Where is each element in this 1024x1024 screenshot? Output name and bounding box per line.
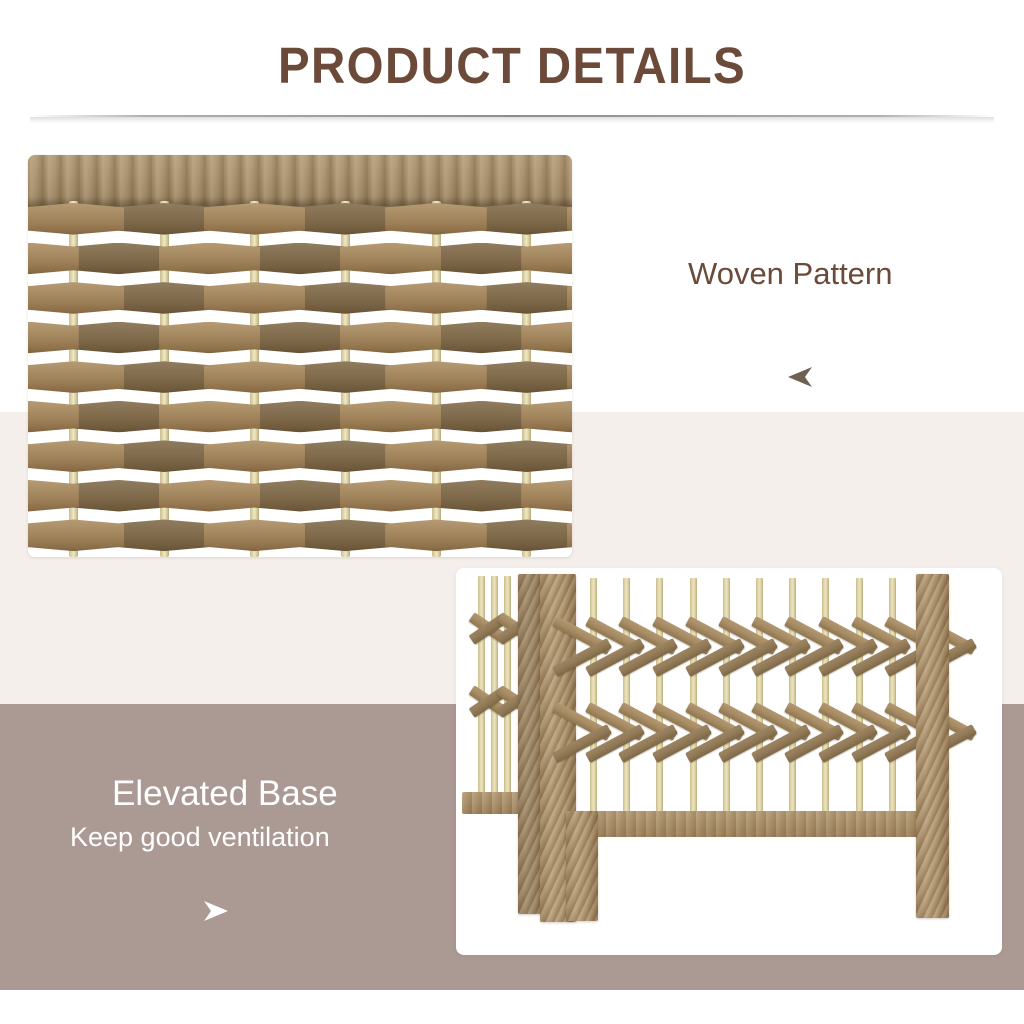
furniture-front-left-foot [566,811,598,921]
furniture-front-bar [889,578,896,813]
furniture-front-bar [856,578,863,813]
furniture-side-bar [491,576,498,796]
woven-strap [385,361,487,393]
woven-strap [204,519,306,551]
woven-strap [28,440,124,472]
woven-strap [28,480,79,512]
woven-strap [68,480,170,512]
woven-strap [521,243,572,275]
woven-strap [295,519,397,551]
product-details-page: PRODUCT DETAILS Woven Pattern Elevated B… [0,0,1024,1024]
woven-panel-body [28,155,572,557]
woven-strap [476,203,572,235]
woven-strap [295,440,397,472]
woven-strap [521,322,572,354]
background-band-footer [0,990,1024,1024]
woven-strap [385,203,487,235]
woven-strap [159,243,261,275]
furniture-front-bar [590,578,597,813]
woven-strap [385,519,487,551]
woven-strap [385,282,487,314]
woven-strap [340,243,442,275]
woven-strap [476,361,572,393]
woven-strap [28,361,124,393]
woven-strap [431,322,533,354]
woven-strap [249,243,351,275]
elevated-base-title: Elevated Base [112,774,338,814]
furniture-bottom-rail [566,811,944,837]
rattan-wrap [916,574,949,918]
woven-strap [476,440,572,472]
woven-strap [340,322,442,354]
furniture-front-bar [723,578,730,813]
furniture-side-bar [478,576,485,796]
woven-strap [567,282,572,314]
woven-strap [28,243,79,275]
woven-strap [68,401,170,433]
woven-strap [249,322,351,354]
woven-strap [567,519,572,551]
woven-pattern-image [28,155,572,557]
page-title: PRODUCT DETAILS [36,36,988,95]
left-arrow-icon [787,366,813,388]
elevated-base-subtitle: Keep good ventilation [70,822,330,853]
woven-strap [385,440,487,472]
woven-strap [204,203,306,235]
furniture-front-bar [690,578,697,813]
woven-strap [521,480,572,512]
woven-strap [249,480,351,512]
furniture-body [456,568,1002,955]
woven-strap [476,519,572,551]
woven-strap [431,401,533,433]
woven-strap [567,440,572,472]
header-divider [30,115,994,117]
woven-strap [28,401,79,433]
woven-strap [521,401,572,433]
woven-pattern-label: Woven Pattern [688,256,892,292]
furniture-front-bar [656,578,663,813]
woven-strap [340,480,442,512]
woven-strap [159,401,261,433]
right-arrow-icon [203,900,229,922]
woven-strap [340,401,442,433]
woven-strap [295,203,397,235]
woven-strap [431,243,533,275]
woven-strap [204,282,306,314]
woven-strap [249,401,351,433]
furniture-front-bar [789,578,796,813]
furniture-front-bar [822,578,829,813]
woven-strap [204,361,306,393]
elevated-base-image [456,568,1002,955]
woven-strap [68,243,170,275]
woven-strap-rows [28,201,572,557]
furniture-front-bar [756,578,763,813]
woven-strap [159,322,261,354]
woven-top-rail [28,155,572,207]
woven-strap [476,282,572,314]
woven-strap [567,361,572,393]
woven-strap [113,361,215,393]
furniture-front-right-leg [916,574,949,918]
woven-strap [28,203,124,235]
woven-strap [295,361,397,393]
woven-strap [113,282,215,314]
woven-strap [28,282,124,314]
woven-strap [159,480,261,512]
woven-strap [113,203,215,235]
woven-strap [431,480,533,512]
rattan-wrap [566,811,598,921]
woven-strap [567,203,572,235]
woven-strap [28,322,79,354]
woven-strap [113,519,215,551]
woven-strap [295,282,397,314]
woven-strap [113,440,215,472]
rattan-hatch [566,811,944,837]
furniture-front-bar [623,578,630,813]
woven-strap [68,322,170,354]
woven-strap [204,440,306,472]
woven-strap [28,519,124,551]
